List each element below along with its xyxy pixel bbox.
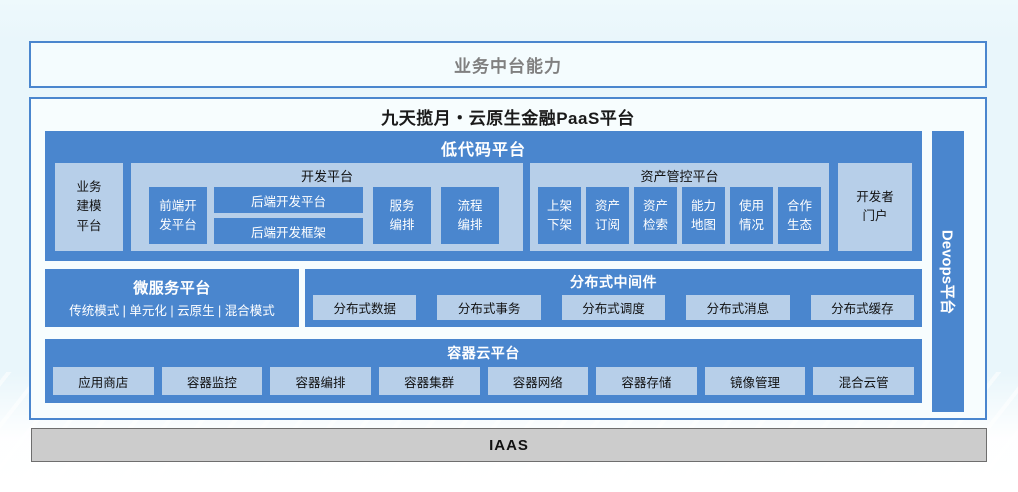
development-platform-group: 开发平台 前端开 发平台 后端开发平台 后端开发框架 服务 编排 流程 编排 <box>131 163 523 251</box>
distributed-middleware-items: 分布式数据 分布式事务 分布式调度 分布式消息 分布式缓存 <box>313 295 914 320</box>
backend-development-platform-box[interactable]: 后端开发平台 <box>214 187 363 213</box>
asset-item-search[interactable]: 资产 检索 <box>634 187 677 244</box>
frontend-development-platform-box[interactable]: 前端开 发平台 <box>149 187 207 244</box>
container-item-hybrid-cloud[interactable]: 混合云管 <box>813 367 914 395</box>
container-item-cluster[interactable]: 容器集群 <box>379 367 480 395</box>
middleware-item-distributed-messaging[interactable]: 分布式消息 <box>686 295 789 320</box>
distributed-middleware-section: 分布式中间件 分布式数据 分布式事务 分布式调度 分布式消息 分布式缓存 <box>305 269 922 327</box>
asset-item-subscription-line-1: 资产 <box>595 197 620 216</box>
asset-item-capability-map-line-2: 地图 <box>691 216 716 235</box>
container-item-orchestration[interactable]: 容器编排 <box>270 367 371 395</box>
architecture-diagram: 业务中台能力 九天揽月・云原生金融PaaS平台 低代码平台 业务 建模 平台 开… <box>0 0 1018 492</box>
container-item-image-management[interactable]: 镜像管理 <box>705 367 806 395</box>
lowcode-platform-title: 低代码平台 <box>45 136 922 160</box>
business-middle-platform-label: 业务中台能力 <box>454 52 562 77</box>
microservice-platform-section[interactable]: 微服务平台 传统模式 | 单元化 | 云原生 | 混合模式 <box>45 269 299 327</box>
middleware-item-distributed-transaction[interactable]: 分布式事务 <box>437 295 540 320</box>
asset-item-listing-line-1: 上架 <box>547 197 572 216</box>
container-cloud-items: 应用商店 容器监控 容器编排 容器集群 容器网络 容器存储 镜像管理 混合云管 <box>53 367 914 395</box>
frontend-dev-line-1: 前端开 <box>159 197 197 216</box>
business-modeling-line-2: 建模 <box>76 197 101 216</box>
asset-item-search-line-2: 检索 <box>643 216 668 235</box>
middleware-item-distributed-scheduling[interactable]: 分布式调度 <box>562 295 665 320</box>
devops-platform-label: Devops平台 <box>938 229 959 313</box>
developer-portal-box[interactable]: 开发者 门户 <box>838 163 912 251</box>
backend-development-framework-box[interactable]: 后端开发框架 <box>214 218 363 244</box>
development-platform-title: 开发平台 <box>131 166 523 185</box>
asset-item-subscription-line-2: 订阅 <box>595 216 620 235</box>
container-cloud-platform-title: 容器云平台 <box>45 343 922 363</box>
flow-orchestration-line-2: 编排 <box>457 216 482 235</box>
asset-item-capability-map[interactable]: 能力 地图 <box>682 187 725 244</box>
asset-management-platform-group: 资产管控平台 上架 下架 资产 订阅 资产 检索 能力 地图 <box>530 163 829 251</box>
asset-item-listing-line-2: 下架 <box>547 216 572 235</box>
business-middle-platform-banner: 业务中台能力 <box>29 41 987 88</box>
service-orchestration-line-2: 编排 <box>389 216 414 235</box>
asset-item-ecosystem-line-1: 合作 <box>787 197 812 216</box>
asset-item-usage[interactable]: 使用 情况 <box>730 187 773 244</box>
microservice-platform-modes: 传统模式 | 单元化 | 云原生 | 混合模式 <box>69 300 275 319</box>
asset-item-ecosystem[interactable]: 合作 生态 <box>778 187 821 244</box>
distributed-middleware-title: 分布式中间件 <box>305 272 922 292</box>
asset-item-usage-line-1: 使用 <box>739 197 764 216</box>
developer-portal-line-2: 门户 <box>862 207 887 226</box>
microservice-platform-title: 微服务平台 <box>133 277 211 298</box>
middleware-item-distributed-cache[interactable]: 分布式缓存 <box>811 295 914 320</box>
iaas-footer: IAAS <box>31 428 987 462</box>
developer-portal-line-1: 开发者 <box>856 188 894 207</box>
flow-orchestration-line-1: 流程 <box>457 197 482 216</box>
asset-item-ecosystem-line-2: 生态 <box>787 216 812 235</box>
asset-item-search-line-1: 资产 <box>643 197 668 216</box>
iaas-label: IAAS <box>489 437 529 454</box>
flow-orchestration-box[interactable]: 流程 编排 <box>441 187 499 244</box>
asset-item-listing[interactable]: 上架 下架 <box>538 187 581 244</box>
business-modeling-platform-box[interactable]: 业务 建模 平台 <box>55 163 123 251</box>
service-orchestration-box[interactable]: 服务 编排 <box>373 187 431 244</box>
asset-item-usage-line-2: 情况 <box>739 216 764 235</box>
devops-platform-bar[interactable]: Devops平台 <box>932 131 964 412</box>
lowcode-platform-section: 低代码平台 业务 建模 平台 开发平台 前端开 发平台 后端开发平台 后端开发框… <box>45 131 922 261</box>
middleware-item-distributed-data[interactable]: 分布式数据 <box>313 295 416 320</box>
container-item-network[interactable]: 容器网络 <box>488 367 589 395</box>
asset-management-items: 上架 下架 资产 订阅 资产 检索 能力 地图 使用 情况 <box>538 187 821 244</box>
frontend-dev-line-2: 发平台 <box>159 216 197 235</box>
asset-management-platform-title: 资产管控平台 <box>530 166 829 185</box>
container-item-monitoring[interactable]: 容器监控 <box>162 367 263 395</box>
backend-development-framework-label: 后端开发框架 <box>251 222 326 241</box>
asset-item-capability-map-line-1: 能力 <box>691 197 716 216</box>
asset-item-subscription[interactable]: 资产 订阅 <box>586 187 629 244</box>
business-modeling-line-1: 业务 <box>76 178 101 197</box>
container-item-storage[interactable]: 容器存储 <box>596 367 697 395</box>
paas-platform-title: 九天揽月・云原生金融PaaS平台 <box>31 104 985 129</box>
backend-development-platform-label: 后端开发平台 <box>251 191 326 210</box>
container-item-app-store[interactable]: 应用商店 <box>53 367 154 395</box>
container-cloud-platform-section: 容器云平台 应用商店 容器监控 容器编排 容器集群 容器网络 容器存储 镜像管理… <box>45 339 922 403</box>
service-orchestration-line-1: 服务 <box>389 197 414 216</box>
business-modeling-line-3: 平台 <box>76 217 101 236</box>
